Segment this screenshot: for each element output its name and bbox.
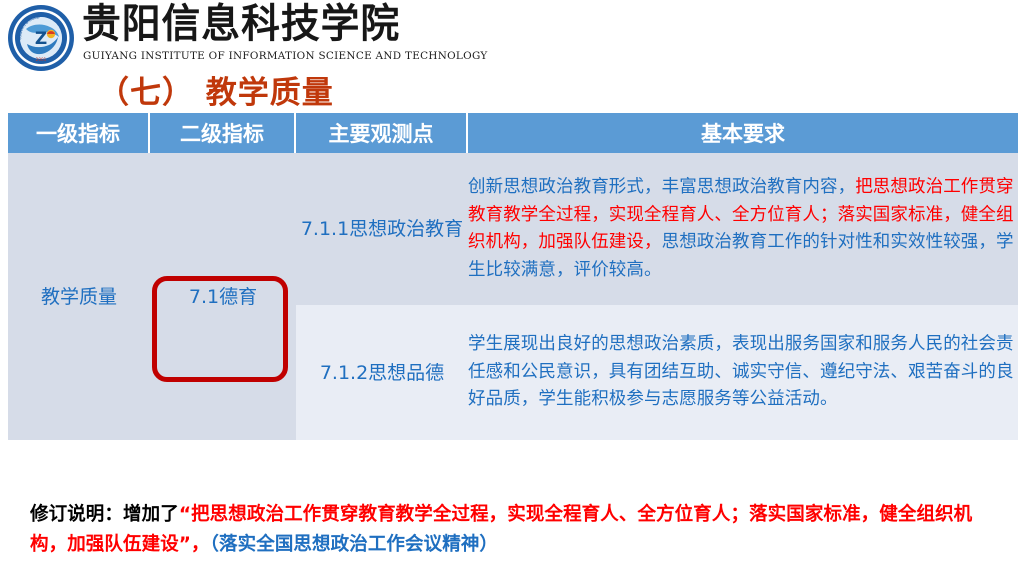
requirement-segment: 创新思想政治教育形式，丰富思想政治教育内容， — [468, 177, 855, 197]
table-row: 教学质量 7.1德育 7.1.1思想政治教育 创新思想政治教育形式，丰富思想政治… — [8, 153, 1018, 305]
page-title: （七） 教学质量 — [98, 74, 334, 112]
table-header-row: 一级指标 二级指标 主要观测点 基本要求 — [8, 113, 1018, 153]
col-header-requirement: 基本要求 — [468, 113, 1018, 153]
svg-text:2001: 2001 — [36, 57, 47, 62]
cell-level1: 教学质量 — [8, 153, 150, 440]
cell-level2: 7.1德育 — [150, 153, 296, 440]
revision-note-source: （落实全国思想政治工作会议精神） — [210, 534, 498, 555]
col-header-level2: 二级指标 — [150, 113, 296, 153]
brand-name-cn: 贵阳信息科技学院 — [82, 0, 402, 50]
cell-observation-2: 7.1.2思想品德 — [296, 305, 468, 440]
revision-note: 修订说明：增加了“把思想政治工作贯穿教育教学全过程，实现全程育人、全方位育人；落… — [30, 500, 1006, 560]
svg-text:Z: Z — [35, 29, 47, 49]
revision-note-label: 修订说明：增加了 — [30, 504, 179, 525]
brand-header: Z 2001 贵阳信息科技学院 贵阳信息科技学院 GUIYANG INSTITU… — [0, 0, 420, 76]
university-seal-icon: Z 2001 贵阳信息科技学院 — [6, 3, 76, 73]
cell-requirement-1: 创新思想政治教育形式，丰富思想政治教育内容，把思想政治工作贯穿教育教学全过程，实… — [468, 153, 1018, 305]
cell-requirement-2: 学生展现出良好的思想政治素质，表现出服务国家和服务人民的社会责任感和公民意识，具… — [468, 305, 1018, 440]
col-header-level1: 一级指标 — [8, 113, 150, 153]
requirement-segment: 学生展现出良好的思想政治素质，表现出服务国家和服务人民的社会责任感和公民意识，具… — [468, 334, 1014, 409]
col-header-observation: 主要观测点 — [296, 113, 468, 153]
indicator-table: 一级指标 二级指标 主要观测点 基本要求 教学质量 7.1德育 7.1.1思想政… — [8, 113, 1018, 440]
brand-name-en: GUIYANG INSTITUTE OF INFORMATION SCIENCE… — [83, 50, 406, 63]
cell-observation-1: 7.1.1思想政治教育 — [296, 153, 468, 305]
